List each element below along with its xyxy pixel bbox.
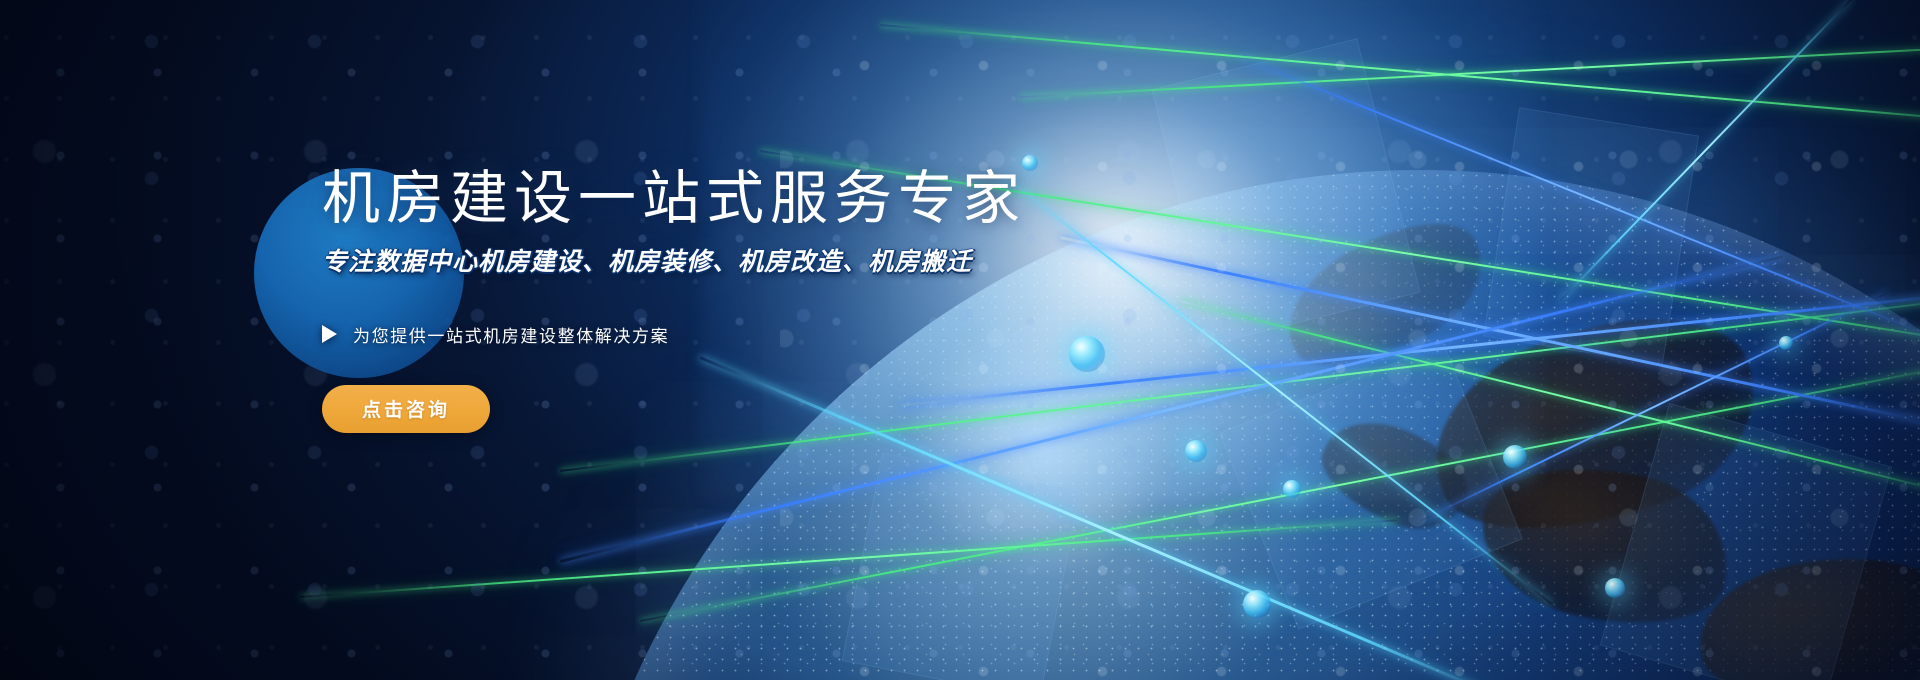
hero-content: 机房建设一站式服务专家 专注数据中心机房建设、机房装修、机房改造、机房搬迁 为您… (322, 168, 1522, 433)
consult-button[interactable]: 点击咨询 (322, 385, 490, 433)
triangle-right-icon (322, 325, 337, 343)
tagline: 为您提供一站式机房建设整体解决方案 (322, 322, 1522, 347)
hero-subheadline: 专注数据中心机房建设、机房装修、机房改造、机房搬迁 (322, 247, 1522, 277)
page-title: 机房建设一站式服务专家 (322, 168, 1522, 231)
hero-banner: 机房建设一站式服务专家 专注数据中心机房建设、机房装修、机房改造、机房搬迁 为您… (0, 0, 1920, 680)
tagline-label: 为您提供一站式机房建设整体解决方案 (353, 322, 669, 347)
